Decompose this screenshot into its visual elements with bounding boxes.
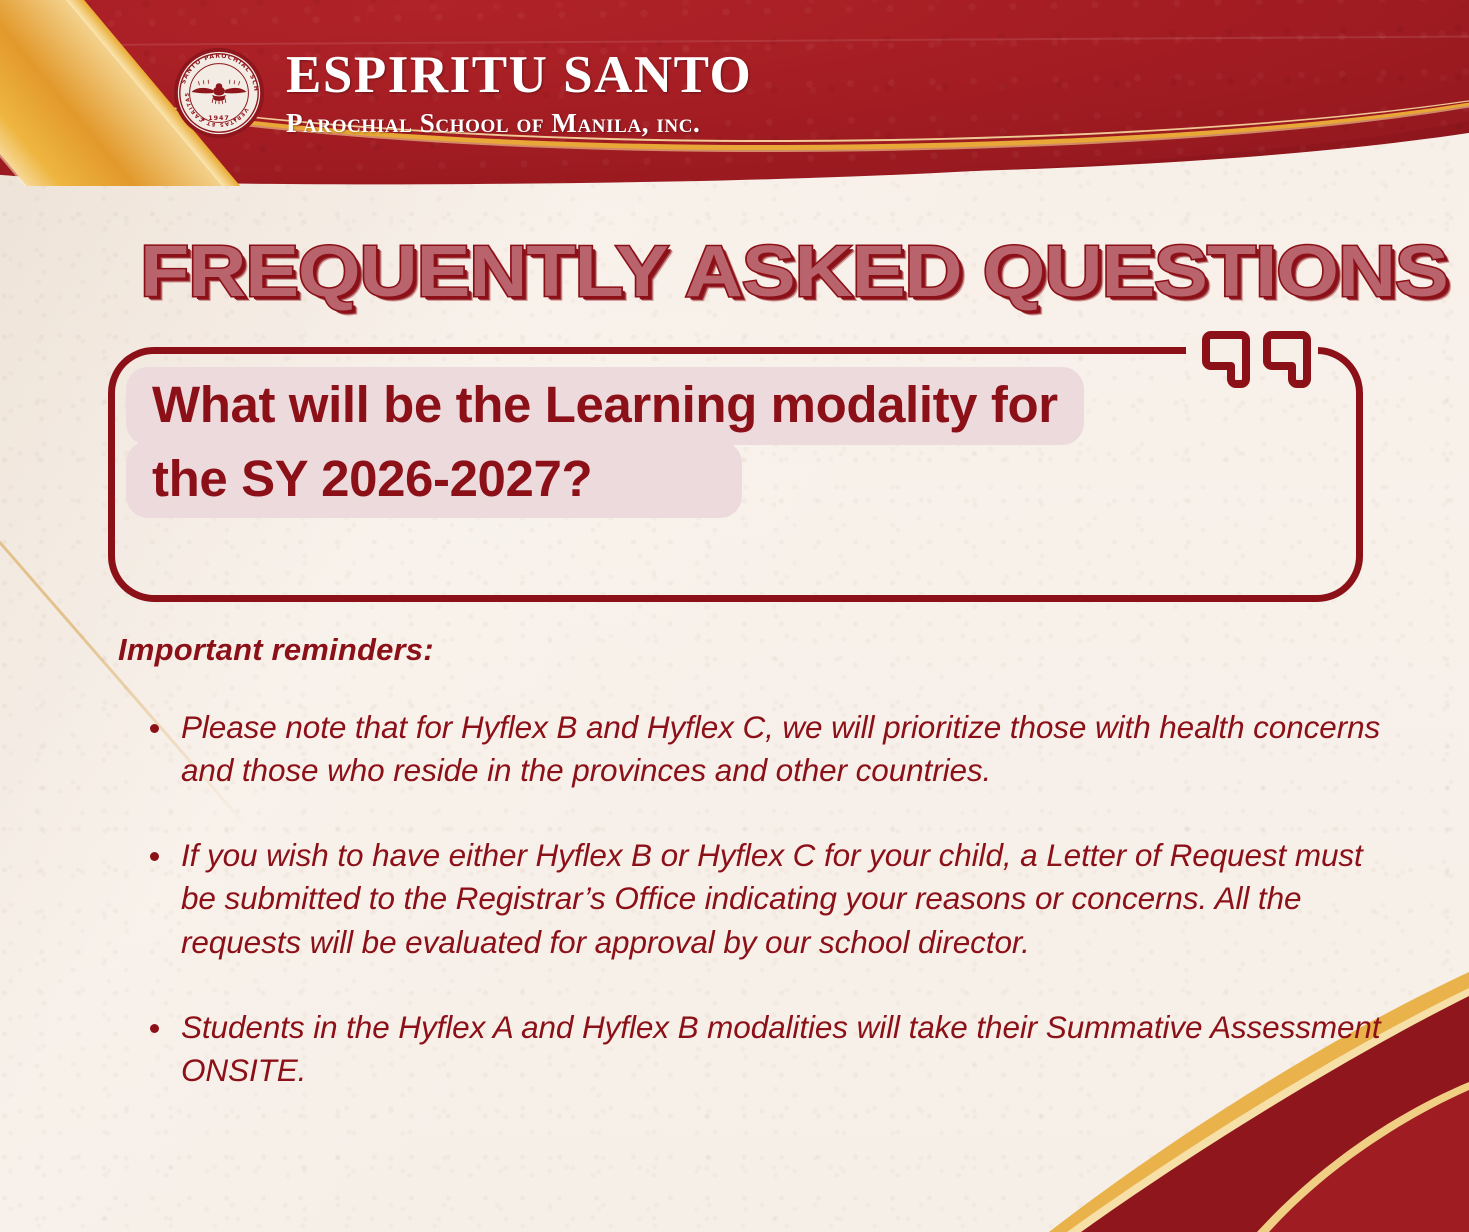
bullet-dot-icon [150,1024,159,1033]
list-item: Please note that for Hyflex B and Hyflex… [118,706,1418,792]
question-card: What will be the Learning modality for t… [108,347,1363,602]
brand-lockup: SANTO PAROCHIAL SCHOOL OF MANILA VERITAS… [170,44,752,142]
list-item: If you wish to have either Hyflex B or H… [118,834,1418,963]
double-quote-icon [1202,330,1311,394]
question-line-1: What will be the Learning modality for [152,376,1058,433]
school-subtitle: Parochial School of Manila, inc. [286,108,752,139]
reminders-list: Please note that for Hyflex B and Hyflex… [118,706,1418,1092]
reminder-text: If you wish to have either Hyflex B or H… [181,834,1396,963]
school-seal-icon: SANTO PAROCHIAL SCHOOL OF MANILA VERITAS… [170,44,268,142]
list-item: Students in the Hyflex A and Hyflex B mo… [118,1006,1418,1092]
faq-poster: SANTO PAROCHIAL SCHOOL OF MANILA VERITAS… [0,0,1469,1232]
brand-text: ESPIRITU SANTO Parochial School of Manil… [286,47,752,139]
page-title: FREQUENTLY ASKED QUESTIONS [140,238,1469,306]
reminder-text: Students in the Hyflex A and Hyflex B mo… [181,1006,1396,1092]
reminder-text: Please note that for Hyflex B and Hyflex… [181,706,1396,792]
question-line-1-highlight: What will be the Learning modality for [126,367,1084,445]
question-text: What will be the Learning modality for t… [126,367,1348,514]
svg-text:1947: 1947 [208,114,230,122]
school-name: ESPIRITU SANTO [286,49,752,102]
question-line-2-highlight: the SY 2026-2027? [126,441,742,519]
bullet-dot-icon [150,724,159,733]
bullet-dot-icon [150,852,159,861]
reminders-heading: Important reminders: [118,632,1418,668]
reminders-section: Important reminders: Please note that fo… [118,632,1418,1134]
question-line-2: the SY 2026-2027? [152,450,592,507]
